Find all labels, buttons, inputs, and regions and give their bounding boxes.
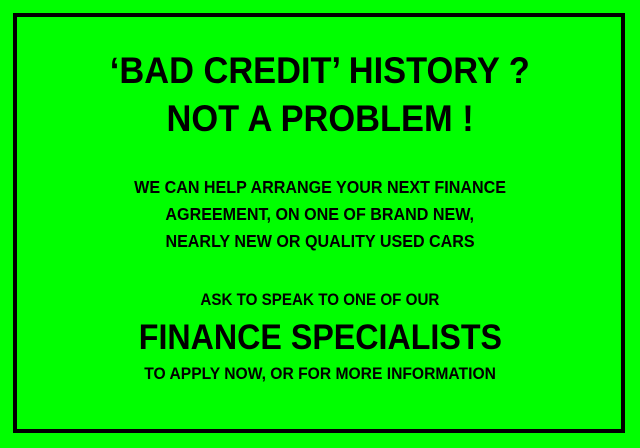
body-line-3: NEARLY NEW OR QUALITY USED CARS <box>165 228 474 255</box>
headline-line-1: ‘BAD CREDIT’ HISTORY ? <box>110 47 530 95</box>
cta-lead-in-text: ASK TO SPEAK TO ONE OF OUR <box>201 287 440 313</box>
cta-feature-heading: FINANCE SPECIALISTS <box>138 316 501 359</box>
body-text-block: WE CAN HELP ARRANGE YOUR NEXT FINANCE AG… <box>118 174 522 255</box>
body-line-2: AGREEMENT, ON ONE OF BRAND NEW, <box>166 201 475 228</box>
body-line-1: WE CAN HELP ARRANGE YOUR NEXT FINANCE <box>134 174 506 201</box>
poster-content: ‘BAD CREDIT’ HISTORY ? NOT A PROBLEM ! W… <box>0 0 640 448</box>
advertisement-poster: ‘BAD CREDIT’ HISTORY ? NOT A PROBLEM ! W… <box>0 0 640 448</box>
headline-line-2: NOT A PROBLEM ! <box>166 95 473 143</box>
call-to-action-block: ASK TO SPEAK TO ONE OF OUR FINANCE SPECI… <box>123 287 518 387</box>
headline-block: ‘BAD CREDIT’ HISTORY ? NOT A PROBLEM ! <box>94 47 546 143</box>
cta-closing-text: TO APPLY NOW, OR FOR MORE INFORMATION <box>144 361 496 387</box>
